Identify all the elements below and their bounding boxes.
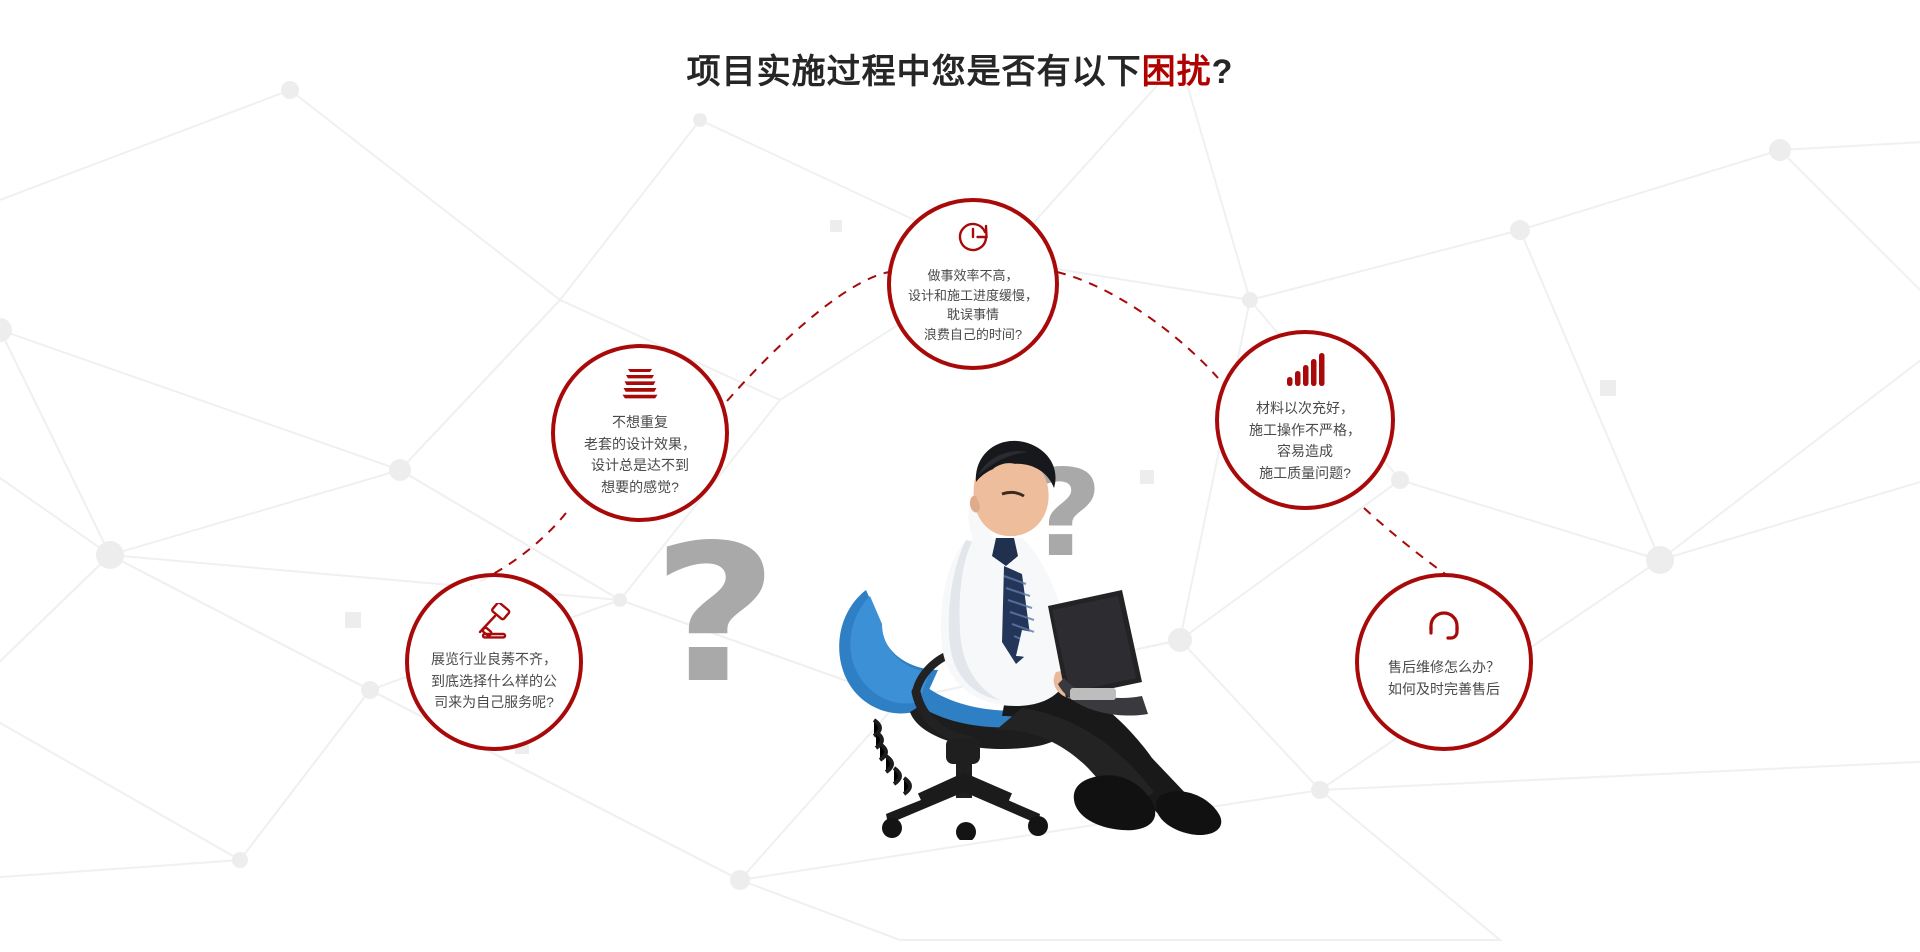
issue-bubble-text: 做事效率不高， 设计和施工进度缓慢， 耽误事情 浪费自己的时间?: [902, 266, 1044, 344]
businessman-with-laptop-photo: [770, 420, 1230, 840]
issue-bubble-text: 材料以次充好， 施工操作不严格， 容易造成 施工质量问题?: [1235, 398, 1375, 485]
issue-bubble-vendor[interactable]: 展览行业良莠不齐， 到底选择什么样的公 司来为自己服务呢?: [405, 573, 583, 751]
page-title-suffix: ?: [1212, 53, 1234, 91]
issue-bubble-text: 不想重复 老套的设计效果， 设计总是达不到 想要的感觉?: [570, 412, 710, 499]
issue-bubble-quality[interactable]: 材料以次充好， 施工操作不严格， 容易造成 施工质量问题?: [1215, 330, 1395, 510]
issue-bubble-efficiency[interactable]: 做事效率不高， 设计和施工进度缓慢， 耽误事情 浪费自己的时间?: [887, 198, 1059, 370]
stacked-layers-icon: [622, 366, 658, 406]
issue-bubble-text: 展览行业良莠不齐， 到底选择什么样的公 司来为自己服务呢?: [417, 649, 571, 714]
issue-bubble-service[interactable]: 售后维修怎么办？ 如何及时完善售后: [1355, 573, 1533, 751]
landing-hero-section: 项目实施过程中您是否有以下困扰? ? ?: [0, 0, 1920, 952]
gavel-icon: [474, 603, 514, 643]
issue-bubble-design[interactable]: 不想重复 老套的设计效果， 设计总是达不到 想要的感觉?: [551, 344, 729, 522]
question-mark-large-decor: ?: [652, 520, 779, 710]
page-title: 项目实施过程中您是否有以下困扰?: [0, 44, 1920, 93]
clock-timer-icon: [956, 220, 990, 260]
page-title-prefix: 项目实施过程中您是否有以下: [687, 53, 1142, 91]
signal-bars-icon: [1285, 352, 1325, 392]
page-title-highlight: 困扰: [1142, 53, 1212, 91]
headset-icon: [1427, 611, 1461, 651]
issue-bubble-text: 售后维修怎么办？ 如何及时完善售后: [1374, 657, 1514, 700]
